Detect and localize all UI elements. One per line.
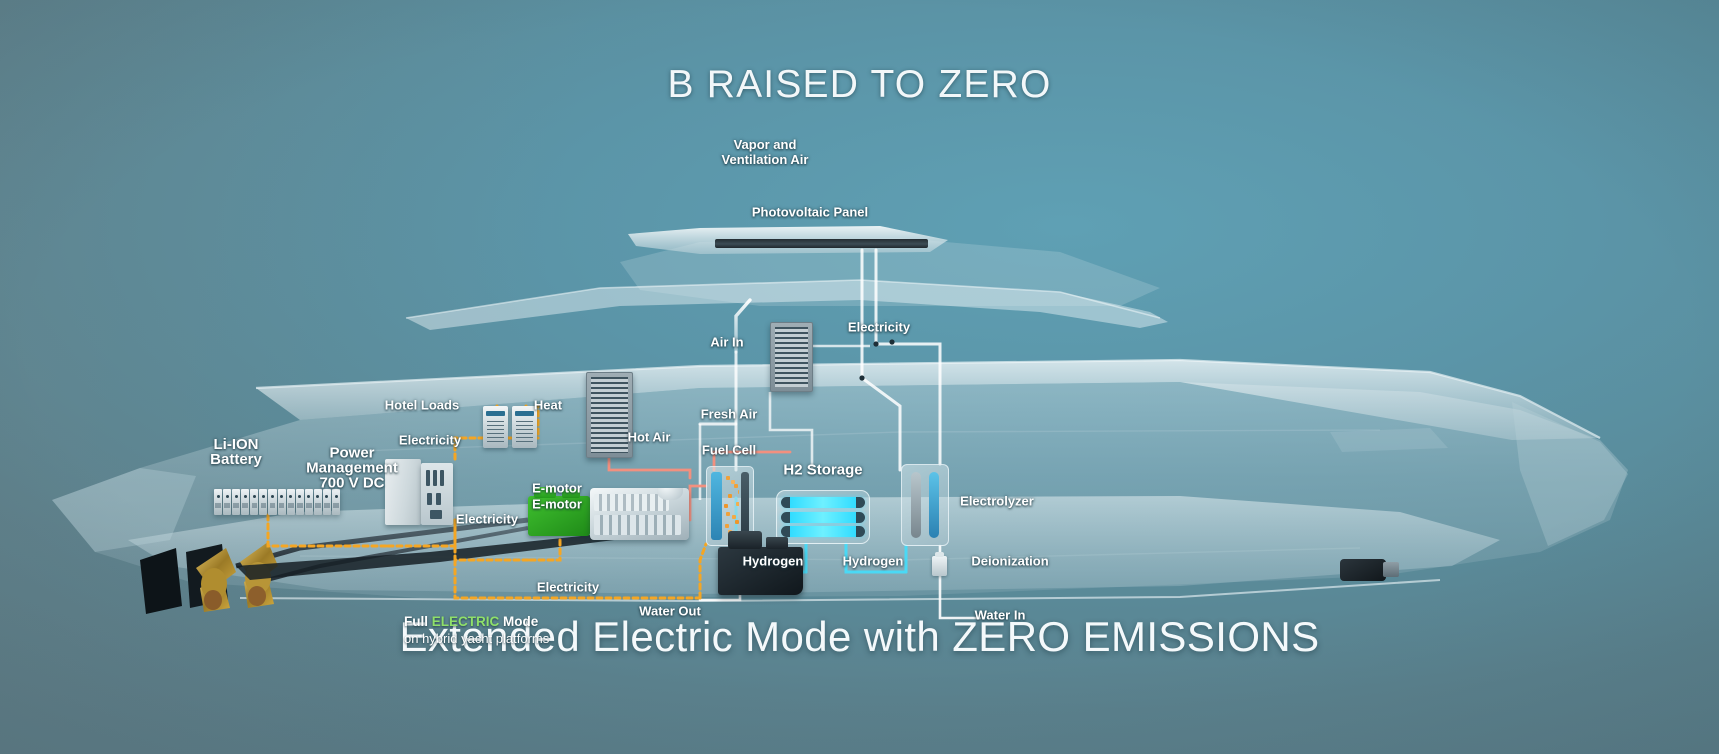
- mode-note-line: Full ELECTRIC Mode: [404, 614, 538, 629]
- label-electricity-motor: Electricity: [456, 512, 518, 527]
- label-heat: Heat: [534, 398, 562, 413]
- page-title-top: B RAISED TO ZERO: [0, 63, 1719, 107]
- label-vapor-ventilation-air: Vapor and Ventilation Air: [722, 137, 809, 167]
- air-intake-radiator: [770, 322, 813, 392]
- label-fuel-cell: Fuel Cell: [702, 443, 756, 458]
- mode-note: Full ELECTRIC Mode on hybrid yacht platf…: [404, 613, 549, 647]
- label-electricity-hotel: Electricity: [399, 433, 461, 448]
- pipe-pv-branch: [876, 344, 940, 464]
- diagram-canvas: B RAISED TO ZERO Extended Electric Mode …: [0, 0, 1719, 754]
- pipe-hot-air-c: [690, 486, 706, 520]
- li-ion-battery-bank: [214, 489, 340, 515]
- power-management-rack: [421, 463, 453, 525]
- mode-note-subtitle: on hybrid yacht platforms: [404, 630, 549, 647]
- engine-unit: [590, 488, 689, 540]
- label-deionization: Deionization: [971, 554, 1048, 569]
- label-electricity-bottom: Electricity: [537, 580, 599, 595]
- label-photovoltaic-panel: Photovoltaic Panel: [752, 205, 868, 220]
- electrolyzer-unit: [901, 464, 949, 546]
- mode-note-suffix: Mode: [499, 614, 538, 629]
- label-water-out: Water Out: [639, 604, 701, 619]
- label-hydrogen-right: Hydrogen: [843, 554, 904, 569]
- label-electrolyzer: Electrolyzer: [960, 494, 1034, 509]
- page-title-bottom: Extended Electric Mode with ZERO EMISSIO…: [0, 613, 1719, 661]
- heat-radiator: [586, 372, 633, 458]
- h2-storage-tank: [776, 490, 870, 544]
- pipe-hot-air-a: [609, 458, 690, 478]
- mode-note-highlight: ELECTRIC: [432, 614, 500, 629]
- label-fresh-air: Fresh Air: [701, 407, 758, 422]
- label-li-ion-battery: Li-ION Battery: [210, 437, 262, 467]
- hotel-load-unit-1: [483, 406, 508, 448]
- label-hotel-loads: Hotel Loads: [385, 398, 459, 413]
- label-power-management: Power Management 700 V DC: [306, 446, 398, 491]
- bus-motor-feed: [530, 536, 560, 560]
- label-air-in: Air In: [710, 335, 743, 350]
- label-hot-air: Hot Air: [628, 430, 671, 445]
- deionization-unit: [932, 556, 947, 576]
- label-e-motor-1: E-motor: [532, 481, 582, 496]
- label-e-motor-2: E-motor: [532, 497, 582, 512]
- label-hydrogen-left: Hydrogen: [743, 554, 804, 569]
- label-electricity-pv: Electricity: [848, 320, 910, 335]
- pipe-pv-to-electrolyzer: [862, 378, 900, 470]
- mode-note-prefix: Full: [404, 614, 432, 629]
- label-water-in: Water In: [975, 608, 1026, 623]
- label-h2-storage: H2 Storage: [783, 463, 862, 478]
- bus-fuelcell-return: [700, 544, 706, 598]
- bus-battery-to-pm: [268, 515, 388, 546]
- pipe-rad2-down: [770, 392, 812, 470]
